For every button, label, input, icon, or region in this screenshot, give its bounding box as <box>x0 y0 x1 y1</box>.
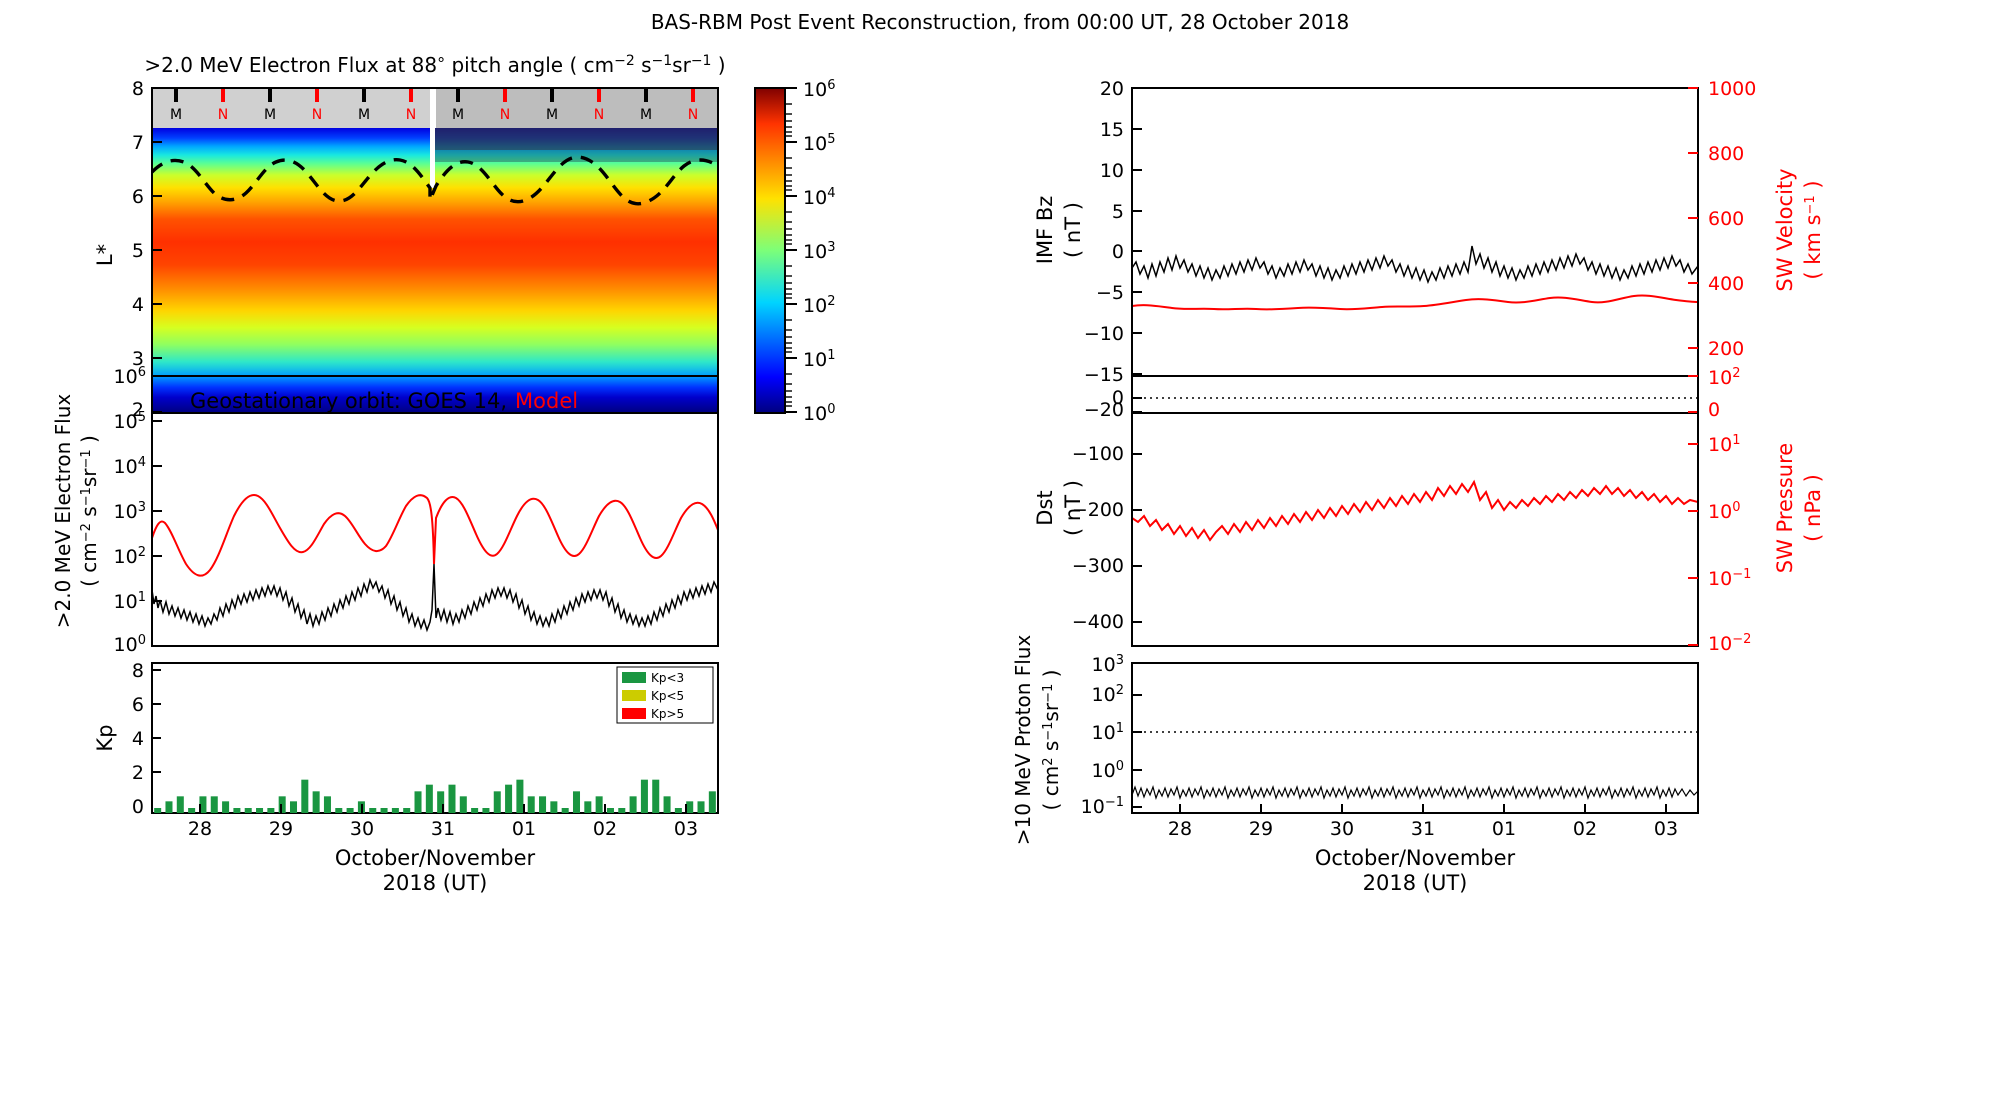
goes-flux-curve <box>152 564 718 630</box>
kp-xlabel-line2: 2018 (UT) <box>383 871 488 895</box>
kp-bar <box>607 808 614 813</box>
svg-text:7: 7 <box>132 132 144 154</box>
kp-bar <box>698 801 705 813</box>
kp-yticks: 864 20 <box>132 660 144 818</box>
svg-text:102: 102 <box>114 545 146 568</box>
svg-text:200: 200 <box>1708 338 1744 360</box>
svg-text:M: M <box>264 107 276 123</box>
kp-bar <box>550 801 557 813</box>
kp-bar <box>573 791 580 813</box>
svg-text:N: N <box>594 107 604 123</box>
panel-geo-flux: Geostationary orbit: GOES 14,Model 106 1… <box>0 368 760 658</box>
kp-bar <box>630 796 637 813</box>
svg-text:102: 102 <box>1092 683 1124 706</box>
svg-text:0: 0 <box>1112 387 1124 409</box>
kp-bar <box>460 796 467 813</box>
svg-text:102: 102 <box>803 294 835 317</box>
svg-text:400: 400 <box>1708 273 1744 295</box>
imf-ylabel-right-2: ( km s−1 ) <box>1801 180 1825 279</box>
geo-ylabel-line1: >2.0 MeV Electron Flux <box>51 394 75 629</box>
svg-text:31: 31 <box>1411 818 1435 840</box>
svg-text:4: 4 <box>132 728 144 750</box>
svg-text:M: M <box>170 107 182 123</box>
kp-bar <box>415 791 422 813</box>
svg-text:105: 105 <box>803 132 835 155</box>
kp-bar <box>369 808 376 813</box>
svg-text:8: 8 <box>132 660 144 682</box>
kp-xticklabels: 28 29 30 31 01 02 03 <box>188 818 698 840</box>
svg-text:800: 800 <box>1708 143 1744 165</box>
svg-text:M: M <box>546 107 558 123</box>
proton-xlabel-line2: 2018 (UT) <box>1363 871 1468 895</box>
svg-text:−400: −400 <box>1072 611 1124 633</box>
geo-legend-main: Geostationary orbit: GOES 14, <box>190 389 507 413</box>
svg-text:N: N <box>218 107 228 123</box>
kp-bar <box>324 796 331 813</box>
dst-ylabel-right-1: SW Pressure <box>1773 443 1797 573</box>
imf-ylabel-left-1: IMF Bz <box>1033 196 1057 265</box>
kp-bar <box>403 808 410 813</box>
svg-text:2: 2 <box>132 762 144 784</box>
svg-text:100: 100 <box>114 633 146 656</box>
kp-bar <box>539 796 546 813</box>
kp-legend-label-low: Kp<3 <box>651 671 684 685</box>
panel-spectrogram: >2.0 MeV Electron Flux at 88° pitch angl… <box>0 50 1080 380</box>
proton-xlabel-line1: October/November <box>1315 846 1516 870</box>
kp-bar <box>584 801 591 813</box>
kp-bars <box>154 780 716 813</box>
svg-text:20: 20 <box>1100 78 1124 100</box>
svg-text:103: 103 <box>803 240 835 263</box>
dst-ylabel-left-1: Dst <box>1033 490 1057 525</box>
svg-text:101: 101 <box>803 348 835 371</box>
kp-bar <box>664 796 671 813</box>
svg-text:N: N <box>500 107 510 123</box>
colorbar-ticklabels: 106 105 104 103 102 101 100 <box>803 78 835 425</box>
svg-text:10−2: 10−2 <box>1708 632 1751 655</box>
kp-bar <box>313 791 320 813</box>
svg-text:4: 4 <box>132 294 144 316</box>
svg-text:10−1: 10−1 <box>1708 567 1751 590</box>
svg-text:−300: −300 <box>1072 555 1124 577</box>
proton-xticks <box>1180 804 1666 813</box>
kp-bar <box>188 808 195 813</box>
sw-velocity-curve <box>1132 295 1698 309</box>
imf-frame <box>1132 88 1698 413</box>
imf-ylabel-right-1: SW Velocity <box>1773 168 1797 291</box>
kp-bar <box>301 780 308 813</box>
svg-text:101: 101 <box>1708 433 1740 456</box>
svg-text:6: 6 <box>132 186 144 208</box>
geo-legend-text: Geostationary orbit: GOES 14,Model <box>190 389 578 413</box>
proton-ylabel-2: ( cm2 s−1sr−1 ) <box>1039 670 1063 811</box>
kp-bar <box>471 808 478 813</box>
kp-bar <box>381 808 388 813</box>
geo-yticks: 106 105 104 103 102 101 100 <box>114 365 146 656</box>
kp-bar <box>596 796 603 813</box>
kp-ylabel: Kp <box>93 724 117 751</box>
svg-text:100: 100 <box>1708 500 1740 523</box>
kp-bar <box>652 780 659 813</box>
dst-ylabel-left-2: ( nT ) <box>1061 480 1085 536</box>
panel-proton: 103 102 101 100 10−1 >10 MeV Proton Flux… <box>960 655 2000 905</box>
svg-text:106: 106 <box>114 365 146 388</box>
spectrogram-ylabel: L* <box>93 244 117 266</box>
svg-text:N: N <box>688 107 698 123</box>
svg-text:N: N <box>406 107 416 123</box>
svg-text:02: 02 <box>593 818 617 840</box>
imf-bz-curve <box>1132 246 1698 282</box>
svg-text:103: 103 <box>1092 653 1124 676</box>
svg-text:15: 15 <box>1100 119 1124 141</box>
svg-text:−100: −100 <box>1072 443 1124 465</box>
kp-legend-swatch-low <box>622 672 646 683</box>
kp-bar <box>177 796 184 813</box>
kp-bar <box>482 808 489 813</box>
svg-text:M: M <box>358 107 370 123</box>
kp-bar <box>256 808 263 813</box>
svg-text:5: 5 <box>132 240 144 262</box>
geo-ylabel-line2: ( cm−2 s−1sr−1 ) <box>77 435 101 587</box>
kp-xlabel-line1: October/November <box>335 846 536 870</box>
svg-text:1000: 1000 <box>1708 78 1756 100</box>
proton-ylabel-1: >10 MeV Proton Flux <box>1011 635 1035 846</box>
svg-text:M: M <box>452 107 464 123</box>
kp-legend-swatch-high <box>622 708 646 719</box>
dst-ylabel-right-2: ( nPa ) <box>1801 474 1825 542</box>
kp-legend[interactable]: Kp<3 Kp<5 Kp>5 <box>617 667 713 723</box>
kp-legend-label-mid: Kp<5 <box>651 689 684 703</box>
kp-bar <box>686 801 693 813</box>
dst-yticks-right: 102 101 100 10−1 10−2 <box>1708 366 1751 655</box>
svg-text:6: 6 <box>132 694 144 716</box>
panel-dst: 0 −100 −200 −300 −400 Dst ( nT ) 102 101… <box>960 368 2000 658</box>
svg-text:30: 30 <box>350 818 374 840</box>
svg-text:106: 106 <box>803 78 835 101</box>
svg-text:N: N <box>312 107 322 123</box>
svg-text:30: 30 <box>1330 818 1354 840</box>
proton-xticklabels: 28 29 30 31 01 02 03 <box>1168 818 1678 840</box>
svg-text:10−1: 10−1 <box>1081 795 1124 818</box>
panel-kp: 864 20 Kp Kp<3 Kp<5 Kp>5 28 29 30 31 01 … <box>0 655 760 905</box>
proton-yticks: 103 102 101 100 10−1 <box>1081 653 1124 818</box>
svg-text:29: 29 <box>269 818 293 840</box>
kp-bar <box>618 808 625 813</box>
svg-text:103: 103 <box>114 500 146 523</box>
kp-bar <box>290 801 297 813</box>
sw-pressure-curve <box>1132 482 1698 540</box>
mlt-band-second <box>434 88 718 128</box>
svg-text:101: 101 <box>1092 721 1124 744</box>
kp-bar <box>233 808 240 813</box>
proton-frame <box>1132 663 1698 813</box>
kp-legend-swatch-mid <box>622 690 646 701</box>
kp-legend-label-high: Kp>5 <box>651 707 684 721</box>
colorbar: 106 105 104 103 102 101 100 <box>755 78 835 425</box>
svg-text:−10: −10 <box>1084 323 1124 345</box>
kp-bar <box>448 785 455 813</box>
kp-bar <box>641 780 648 813</box>
kp-bar <box>392 808 399 813</box>
page-title: BAS-RBM Post Event Reconstruction, from … <box>0 10 2000 34</box>
dst-frame <box>1132 376 1698 646</box>
kp-bar <box>505 785 512 813</box>
svg-text:8: 8 <box>132 78 144 100</box>
kp-bar <box>426 785 433 813</box>
svg-text:105: 105 <box>114 410 146 433</box>
kp-bar <box>267 808 274 813</box>
kp-bar <box>675 808 682 813</box>
svg-text:0: 0 <box>1112 241 1124 263</box>
svg-text:28: 28 <box>188 818 212 840</box>
svg-text:10: 10 <box>1100 160 1124 182</box>
kp-bar <box>335 808 342 813</box>
kp-bar <box>211 796 218 813</box>
svg-text:104: 104 <box>114 455 146 478</box>
kp-bar <box>222 801 229 813</box>
kp-bar <box>347 808 354 813</box>
kp-bar <box>562 808 569 813</box>
kp-bar <box>528 796 535 813</box>
svg-text:31: 31 <box>431 818 455 840</box>
svg-text:01: 01 <box>1492 818 1516 840</box>
svg-text:104: 104 <box>803 186 835 209</box>
svg-text:−5: −5 <box>1096 282 1124 304</box>
geo-legend-model: Model <box>515 389 578 413</box>
svg-text:29: 29 <box>1249 818 1273 840</box>
kp-bar <box>279 796 286 813</box>
kp-bar <box>245 808 252 813</box>
kp-bar <box>516 780 523 813</box>
model-flux-curve <box>152 495 718 576</box>
svg-text:600: 600 <box>1708 208 1744 230</box>
svg-text:01: 01 <box>512 818 536 840</box>
kp-bar <box>154 808 161 813</box>
svg-text:28: 28 <box>1168 818 1192 840</box>
kp-bar <box>709 791 716 813</box>
svg-text:03: 03 <box>1654 818 1678 840</box>
panel-imf: 20 15 10 5 0 −5 −10 −15 −20 IMF Bz ( nT … <box>960 50 2000 380</box>
svg-text:102: 102 <box>1708 366 1740 389</box>
svg-text:03: 03 <box>674 818 698 840</box>
svg-text:100: 100 <box>803 402 835 425</box>
svg-text:100: 100 <box>1092 759 1124 782</box>
svg-text:101: 101 <box>114 590 146 613</box>
kp-bar <box>494 791 501 813</box>
svg-text:0: 0 <box>132 796 144 818</box>
svg-text:M: M <box>640 107 652 123</box>
proton-flux-curve <box>1132 787 1698 798</box>
spec-title-main: >2.0 MeV Electron Flux at 88 <box>144 53 437 77</box>
svg-text:02: 02 <box>1573 818 1597 840</box>
kp-bar <box>165 801 172 813</box>
svg-text:5: 5 <box>1112 201 1124 223</box>
spectrogram-title: >2.0 MeV Electron Flux at 88° pitch angl… <box>144 53 725 77</box>
imf-ylabel-left-2: ( nT ) <box>1061 202 1085 258</box>
